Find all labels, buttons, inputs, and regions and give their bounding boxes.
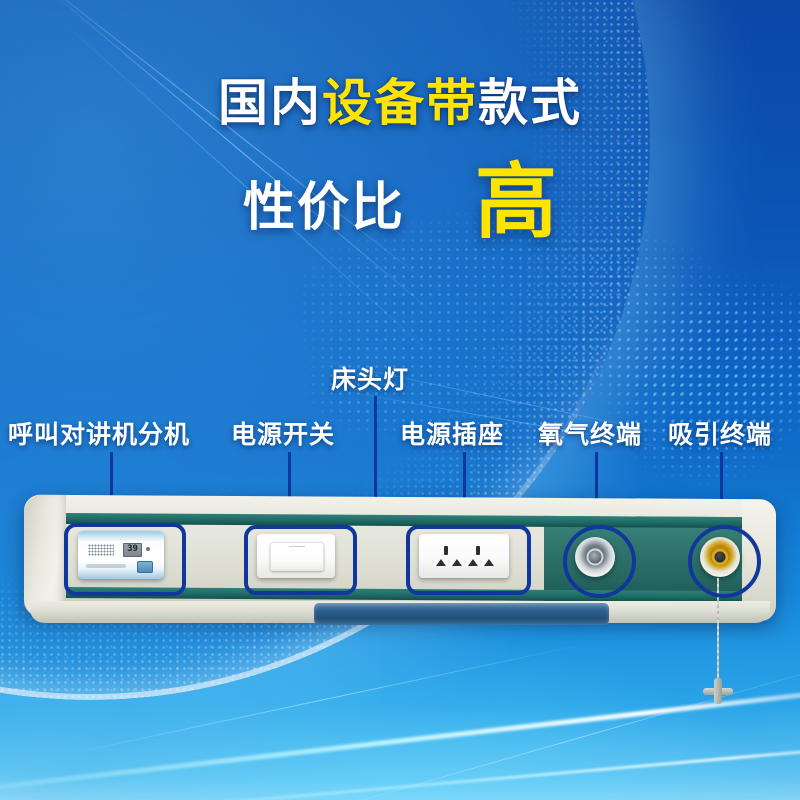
highlight-box-socket — [406, 525, 531, 595]
highlight-circle-suction — [688, 525, 761, 598]
callout-label-suction: 吸引终端 — [668, 415, 772, 451]
highlight-box-intercom — [64, 523, 186, 596]
highlight-circle-oxygen — [563, 525, 636, 598]
pull-cord-handle[interactable] — [703, 678, 733, 704]
callout-label-socket: 电源插座 — [400, 415, 504, 451]
bedlamp-diffuser[interactable] — [314, 603, 609, 625]
highlight-box-switch — [244, 525, 357, 595]
callout-label-oxygen: 氧气终端 — [538, 415, 642, 451]
callout-label-bedlamp: 床头灯 — [331, 360, 409, 396]
callout-label-intercom: 呼叫对讲机分机 — [8, 415, 190, 451]
callout-label-switch: 电源开关 — [231, 415, 335, 451]
panel-left-endcap — [24, 495, 66, 617]
promo-banner: 国内设备带款式 性价比 高 呼叫对讲机分机 电源开关 床头灯 电源插座 氧气终端… — [0, 0, 800, 800]
